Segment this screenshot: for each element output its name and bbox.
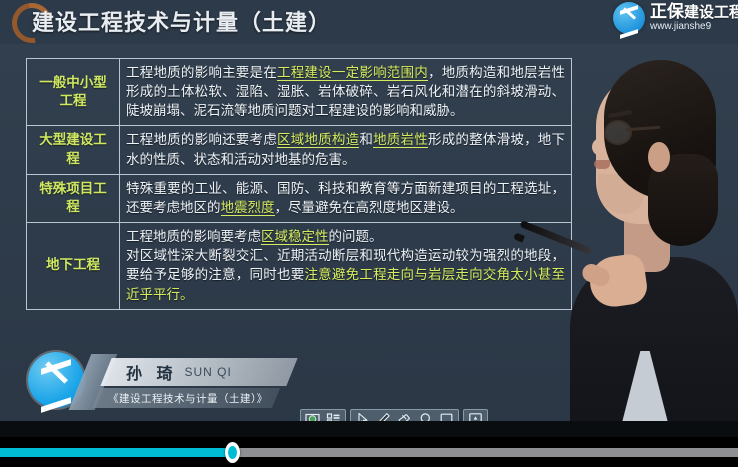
table-row-category: 特殊项目工程 bbox=[27, 174, 120, 222]
text-segment: 和 bbox=[359, 132, 373, 147]
brand-watermark: 正保建设工程 www.jianshe9 bbox=[613, 2, 738, 34]
table-row-category: 大型建设工程 bbox=[27, 126, 120, 174]
table-row: 特殊项目工程 特殊重要的工业、能源、国防、科技和教育等方面新建项目的工程选址，还… bbox=[27, 174, 572, 222]
table-row-content: 工程地质的影响还要考虑区域地质构造和地质岩性形成的整体滑坡，地下水的性质、状态和… bbox=[120, 126, 572, 174]
course-title-label: 《建设工程技术与计量（土建）》 bbox=[108, 390, 288, 407]
glasses-temple-arm bbox=[626, 126, 660, 131]
brand-name-rest: 建设工程 bbox=[684, 4, 738, 21]
highlighted-text: 地质岩性 bbox=[373, 132, 428, 148]
table-row-category: 一般中小型工程 bbox=[27, 59, 120, 126]
slide-content-area: 建设工程技术与计量（土建） 正保建设工程 www.jianshe9 一般中小型工… bbox=[0, 0, 738, 437]
glasses-lens bbox=[604, 120, 632, 145]
highlighted-text: 工程建设一定影响范围内 bbox=[277, 65, 428, 81]
progress-fill bbox=[0, 448, 232, 457]
instructor-nameplate: 孙 琦 SUN QI 《建设工程技术与计量（土建）》 bbox=[22, 352, 292, 414]
instructor-ear bbox=[648, 142, 670, 172]
instructor-hand-with-pointer bbox=[562, 228, 642, 308]
table-row-content: 工程地质的影响主要是在工程建设一定影响范围内，地质构造和地层岩性形成的土体松软、… bbox=[120, 59, 572, 126]
table-row-content: 工程地质的影响要考虑区域稳定性的问题。对区域性深大断裂交汇、近期活动断层和现代构… bbox=[120, 223, 572, 310]
progress-scrubber-handle[interactable] bbox=[225, 442, 240, 463]
instructor-name-cn: 孙 琦 bbox=[126, 360, 177, 384]
player-control-bar[interactable] bbox=[0, 437, 738, 467]
brand-url: www.jianshe9 bbox=[650, 22, 738, 33]
text-segment: ，尽量避免在高烈度地区建设。 bbox=[275, 200, 464, 215]
text-segment: 工程地质的影响主要是在 bbox=[126, 65, 277, 80]
page-title: 建设工程技术与计量（土建） bbox=[32, 5, 331, 37]
table-row: 大型建设工程 工程地质的影响还要考虑区域地质构造和地质岩性形成的整体滑坡，地下水… bbox=[27, 126, 572, 174]
instructor-mouth bbox=[594, 160, 610, 169]
video-player-screen: 建设工程技术与计量（土建） 正保建设工程 www.jianshe9 一般中小型工… bbox=[0, 0, 738, 467]
table-row-content: 特殊重要的工业、能源、国防、科技和教育等方面新建项目的工程选址，还要考虑地区的地… bbox=[120, 174, 572, 222]
brand-name-bold: 正保 bbox=[650, 2, 684, 21]
table-row: 一般中小型工程 工程地质的影响主要是在工程建设一定影响范围内，地质构造和地层岩性… bbox=[27, 59, 572, 126]
highlighted-text: 地震烈度 bbox=[221, 200, 275, 216]
highlighted-text: 区域稳定性 bbox=[261, 229, 329, 245]
instructor-name-en: SUN QI bbox=[184, 365, 231, 379]
video-letterbox-band bbox=[0, 421, 738, 437]
text-segment: 工程地质的影响要考虑 bbox=[126, 229, 261, 244]
highlighted-text: 区域地质构造 bbox=[277, 132, 359, 148]
text-segment: 工程地质的影响还要考虑 bbox=[126, 132, 277, 147]
table-body: 一般中小型工程 工程地质的影响主要是在工程建设一定影响范围内，地质构造和地层岩性… bbox=[27, 59, 572, 310]
brand-name: 正保建设工程 bbox=[650, 3, 738, 21]
content-table: 一般中小型工程 工程地质的影响主要是在工程建设一定影响范围内，地质构造和地层岩性… bbox=[26, 58, 572, 310]
table-row-category: 地下工程 bbox=[27, 223, 120, 310]
nameplate-name-row: 孙 琦 SUN QI bbox=[126, 361, 296, 383]
brand-text-block: 正保建设工程 www.jianshe9 bbox=[650, 3, 738, 32]
instructor-glasses bbox=[604, 120, 658, 142]
progress-track[interactable] bbox=[0, 448, 738, 457]
text-segment: 的问题。 bbox=[329, 229, 383, 244]
table-row: 地下工程 工程地质的影响要考虑区域稳定性的问题。对区域性深大断裂交汇、近期活动断… bbox=[27, 223, 572, 310]
brand-logo-icon bbox=[613, 2, 645, 34]
